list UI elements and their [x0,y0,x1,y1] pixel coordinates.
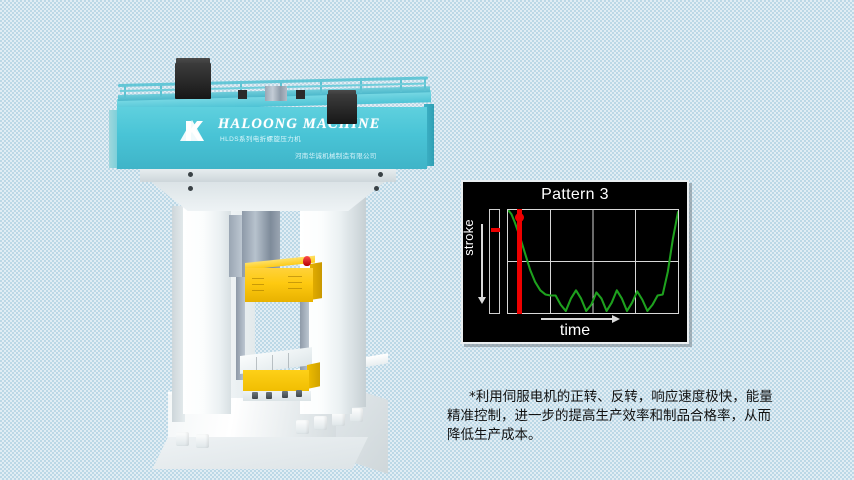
ram-detail-line [288,288,302,289]
crown-bolt [374,186,379,191]
base-foot [314,416,327,430]
right-arrow-icon [541,318,613,320]
ram-detail-line [252,284,264,285]
bolster-plate [243,370,309,392]
base-foot [196,434,209,448]
bolster-rib [288,353,289,368]
slide-ram [245,268,313,302]
company-name: 河南华诚机械制造有限公司 [295,150,377,160]
ram-detail-line [252,290,264,291]
brand-model-line: HLDS系列电折螺旋压力机 [220,133,301,143]
railing-post [124,86,126,99]
roof-small-block [296,90,305,99]
bolster-bolt [266,392,272,399]
column-right-side-face [350,193,366,407]
panel-title: Pattern 3 [463,186,687,204]
ram-detail-line [288,282,302,283]
servo-press-machine-illustration: HALOONG MACHINE HLDS系列电折螺旋压力机 河南华诚机械制造有限… [0,0,460,480]
ram-red-indicator [303,256,311,266]
down-arrow-icon [481,224,483,298]
ram-detail-line [288,276,302,277]
railing-post [320,81,322,94]
stroke-time-plot [507,209,679,314]
servo-motor-unit [175,63,211,99]
red-cursor-line-icon [517,209,522,314]
slide-canvas: HALOONG MACHINE HLDS系列电折螺旋压力机 河南华诚机械制造有限… [0,0,854,480]
bolster-bolt [296,390,302,397]
crown-bolt [188,172,193,177]
crown-plate [140,168,396,182]
haloong-h-logo-icon [178,117,210,143]
crown-bolt [188,186,193,191]
caption-text: *利用伺服电机的正转、反转，响应速度极快，能量精准控制，进一步的提高生产效率和制… [447,388,777,445]
servo-motor-unit [327,94,357,124]
railing-post [400,79,402,92]
control-vent-box [265,86,287,101]
crown-head-front: HALOONG MACHINE HLDS系列电折螺旋压力机 [117,107,427,169]
base-foot [296,420,309,434]
railing-post [360,80,362,93]
x-axis-label: time [463,322,687,340]
base-foot [332,412,345,426]
bolster-rib [272,355,273,370]
bolster-bolt [252,392,258,399]
bolster-bolt [282,391,288,398]
crown-taper [150,181,386,211]
railing-post [160,85,162,98]
base-foot [176,432,189,446]
column-left [183,200,231,414]
pattern-chart-panel: Pattern 3 stroke time [461,180,689,344]
stroke-position-bar-icon [489,209,500,314]
ram-detail-line [252,278,264,279]
stroke-position-marker [491,228,500,232]
roof-small-block [238,90,247,99]
crown-bolt [378,172,383,177]
y-axis-label: stroke [461,219,476,256]
